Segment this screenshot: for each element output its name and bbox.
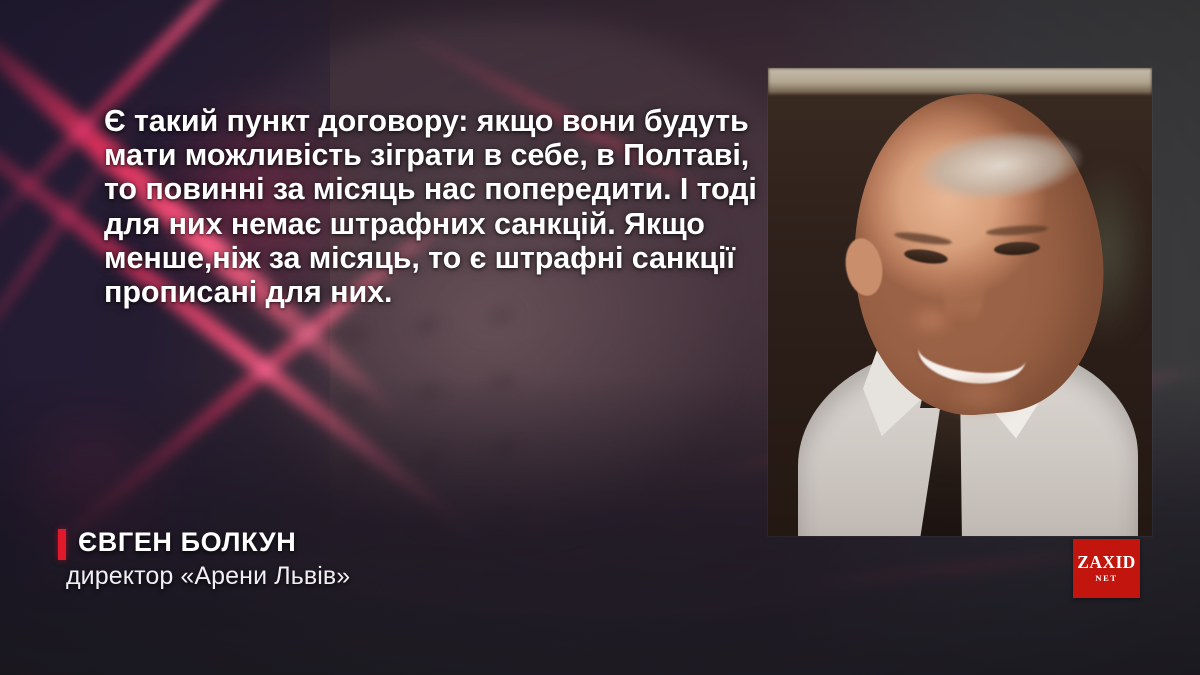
quote-line-4: для них немає штрафних санкцій. Якщо — [104, 207, 764, 241]
quote-line-2: мати можливість зіграти в себе, в Полтав… — [104, 138, 764, 172]
speaker-attribution: ЄВГЕН БОЛКУН директор «Арени Львів» — [58, 527, 350, 591]
quote-line-6: прописані для них. — [104, 275, 764, 309]
speaker-name: ЄВГЕН БОЛКУН — [78, 527, 350, 558]
zaxid-net-logo[interactable]: ZAXID NET — [1073, 539, 1140, 598]
quote-line-3: то повинні за місяць нас попередити. І т… — [104, 172, 764, 206]
logo-wordmark: ZAXID — [1077, 554, 1135, 571]
portrait-chin — [926, 368, 1036, 426]
speaker-text-group: ЄВГЕН БОЛКУН директор «Арени Львів» — [78, 527, 350, 591]
quote-line-5: менше,ніж за місяць, то є штрафні санкці… — [104, 241, 764, 275]
quote-text-block: Є такий пункт договору: якщо вони будуть… — [104, 104, 764, 309]
quote-card: Є такий пункт договору: якщо вони будуть… — [0, 0, 1200, 675]
speaker-portrait — [768, 68, 1152, 536]
logo-subdomain: NET — [1095, 574, 1117, 583]
quote-line-1: Є такий пункт договору: якщо вони будуть — [104, 104, 764, 138]
speaker-role: директор «Арени Львів» — [66, 562, 350, 591]
red-accent-bar — [58, 529, 66, 560]
